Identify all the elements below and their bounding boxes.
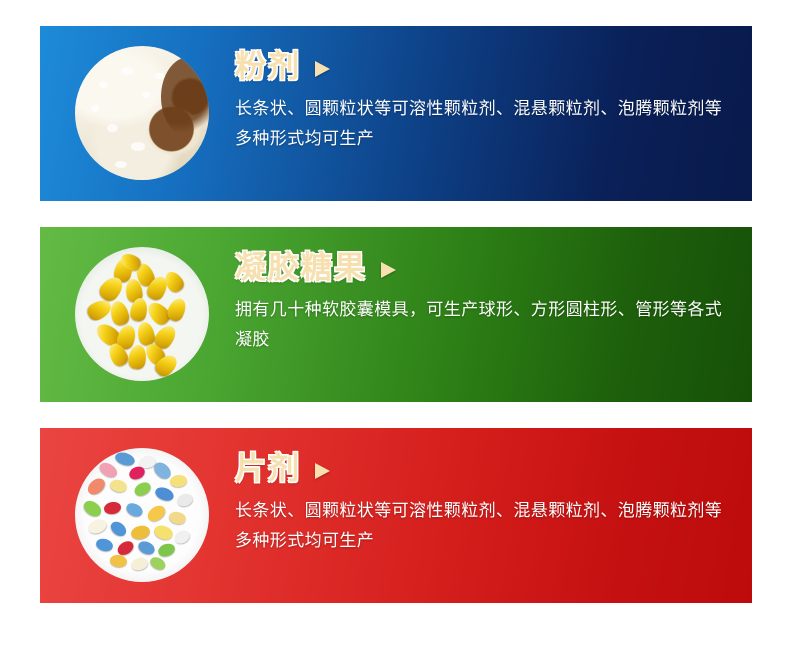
bowl-rim (161, 57, 209, 137)
product-forms-page: 粉剂 长条状、圆颗粒状等可溶性颗粒剂、混悬颗粒剂、泡腾颗粒剂等多种形式均可生产 (0, 0, 790, 669)
card-title: 凝胶糖果 (235, 249, 367, 288)
card-title: 粉剂 (235, 48, 301, 87)
title-row: 凝胶糖果 (235, 249, 734, 288)
card-description: 拥有几十种软胶囊模具，可生产球形、方形圆柱形、管形等各式凝胶 (235, 295, 733, 355)
card-text-gel-candy: 凝胶糖果 拥有几十种软胶囊模具，可生产球形、方形圆柱形、管形等各式凝胶 (235, 249, 734, 355)
product-card-gel-candy[interactable]: 凝胶糖果 拥有几十种软胶囊模具，可生产球形、方形圆柱形、管形等各式凝胶 (40, 227, 752, 402)
gel-photo (75, 247, 209, 381)
right-triangle-icon[interactable] (315, 61, 330, 77)
right-triangle-icon[interactable] (315, 463, 330, 479)
title-row: 粉剂 (235, 48, 734, 87)
powder-photo (75, 46, 209, 180)
card-description: 长条状、圆颗粒状等可溶性颗粒剂、混悬颗粒剂、泡腾颗粒剂等多种形式均可生产 (235, 94, 733, 154)
right-triangle-icon[interactable] (381, 262, 396, 278)
product-image-powder (75, 46, 209, 180)
title-row: 片剂 (235, 450, 734, 489)
product-image-tablet (75, 448, 209, 582)
card-title: 片剂 (235, 450, 301, 489)
product-card-tablet[interactable]: 片剂 长条状、圆颗粒状等可溶性颗粒剂、混悬颗粒剂、泡腾颗粒剂等多种形式均可生产 (40, 428, 752, 603)
card-text-powder: 粉剂 长条状、圆颗粒状等可溶性颗粒剂、混悬颗粒剂、泡腾颗粒剂等多种形式均可生产 (235, 48, 734, 154)
card-text-tablet: 片剂 长条状、圆颗粒状等可溶性颗粒剂、混悬颗粒剂、泡腾颗粒剂等多种形式均可生产 (235, 450, 734, 556)
product-card-powder[interactable]: 粉剂 长条状、圆颗粒状等可溶性颗粒剂、混悬颗粒剂、泡腾颗粒剂等多种形式均可生产 (40, 26, 752, 201)
tablet-photo (75, 448, 209, 582)
product-image-gel-candy (75, 247, 209, 381)
card-description: 长条状、圆颗粒状等可溶性颗粒剂、混悬颗粒剂、泡腾颗粒剂等多种形式均可生产 (235, 496, 733, 556)
